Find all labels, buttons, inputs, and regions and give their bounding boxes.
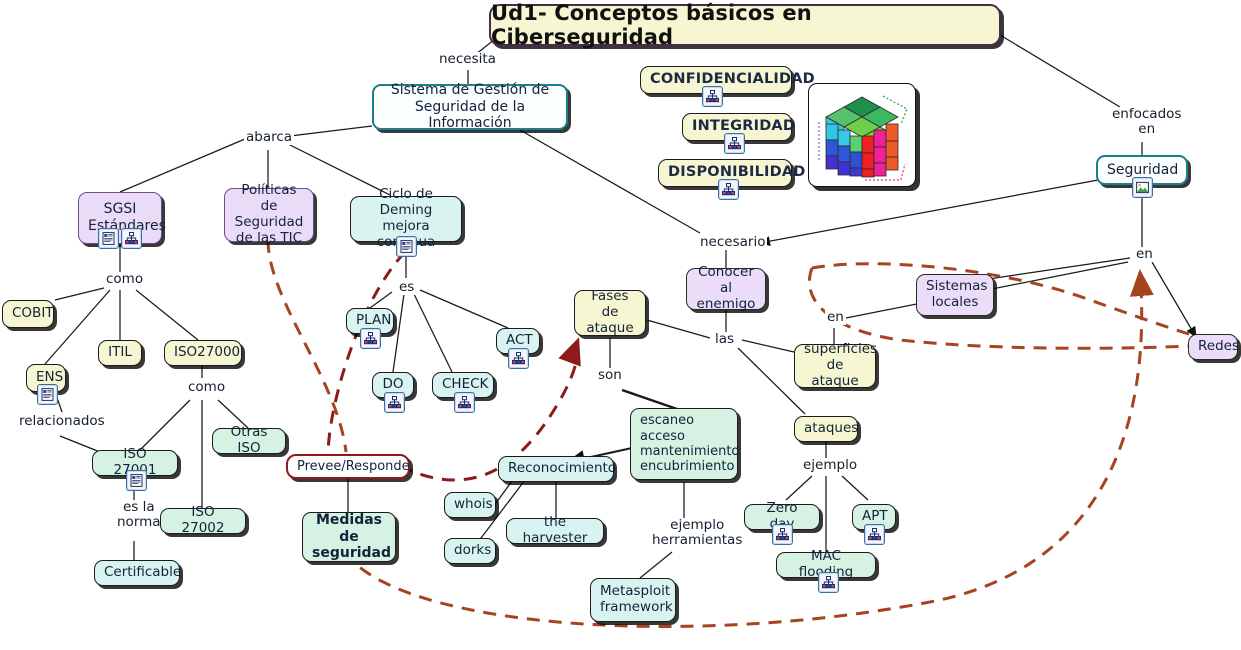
link-label-necesita: necesita: [437, 52, 498, 67]
node-otras-iso[interactable]: Otras ISO: [212, 428, 286, 454]
concept-map-canvas: Ud1- Conceptos básicos en Ciberseguridad…: [0, 0, 1241, 650]
link-label-las: las: [713, 332, 736, 347]
icons-apt: [864, 524, 885, 545]
node-tree-icon[interactable]: [508, 348, 529, 369]
icons-ens: [37, 384, 58, 405]
node-tree-icon[interactable]: [724, 133, 745, 154]
icons-iso-27001: [126, 470, 147, 491]
node-politicas-seguridad-tic[interactable]: Políticas de Seguridad de las TIC: [224, 188, 314, 242]
document-icon[interactable]: [396, 236, 417, 257]
node-superficies-de-ataque[interactable]: superficies de ataque: [794, 344, 876, 388]
node-tree-icon[interactable]: [718, 179, 739, 200]
link-label-necesario: necesario: [698, 235, 767, 250]
node-fases-de-ataque[interactable]: Fases de ataque: [574, 290, 646, 336]
node-metasploit-framework[interactable]: Metasploit framework: [590, 578, 676, 622]
node-sgsi-main[interactable]: Sistema de Gestión de Seguridad de la In…: [372, 84, 568, 130]
node-tree-icon[interactable]: [702, 86, 723, 107]
mccumber-cube-image: [808, 83, 916, 187]
node-tree-icon[interactable]: [818, 572, 839, 593]
node-redes[interactable]: Redes: [1188, 334, 1238, 360]
link-label-en-2: en: [1134, 247, 1155, 262]
link-label-en-1: en: [825, 310, 846, 325]
node-whois[interactable]: whois: [444, 492, 496, 518]
link-label-abarca: abarca: [244, 130, 294, 145]
icons-check: [454, 392, 475, 413]
link-label-enfocados-en: enfocados en: [1110, 107, 1183, 137]
node-prevee-responde[interactable]: Prevee/Responde: [286, 454, 410, 479]
node-tree-icon[interactable]: [121, 228, 142, 249]
node-fases-lista[interactable]: escaneo acceso mantenimiento encubrimien…: [630, 408, 738, 480]
icons-plan: [360, 328, 381, 349]
node-tree-icon[interactable]: [360, 328, 381, 349]
node-cobit[interactable]: COBIT: [2, 300, 54, 328]
node-sistemas-locales[interactable]: Sistemas locales: [916, 274, 994, 316]
icons-seguridad: [1132, 177, 1153, 198]
icons-do: [384, 392, 405, 413]
node-tree-icon[interactable]: [384, 392, 405, 413]
node-conocer-al-enemigo[interactable]: Conocer al enemigo: [686, 268, 766, 310]
icons-confidencialidad: [702, 86, 723, 107]
node-dorks[interactable]: dorks: [444, 538, 496, 564]
node-tree-icon[interactable]: [454, 392, 475, 413]
icons-ciclo-deming: [396, 236, 417, 257]
node-tree-icon[interactable]: [864, 524, 885, 545]
icons-zero-day: [772, 524, 793, 545]
link-label-es-la-norma: es la norma: [115, 500, 163, 530]
link-label-como-2: como: [186, 380, 227, 395]
link-label-ejemplo: ejemplo: [801, 458, 859, 473]
node-tree-icon[interactable]: [772, 524, 793, 545]
icons-disponibilidad: [718, 179, 739, 200]
icons-integridad: [724, 133, 745, 154]
node-reconocimiento[interactable]: Reconocimiento: [498, 456, 614, 482]
node-the-harvester[interactable]: the harvester: [506, 518, 604, 544]
node-iso27000[interactable]: ISO27000: [164, 340, 242, 366]
node-medidas-seguridad[interactable]: Medidas de seguridad: [302, 512, 396, 562]
picture-icon[interactable]: [1132, 177, 1153, 198]
link-label-son: son: [596, 368, 624, 383]
node-iso-27002[interactable]: ISO 27002: [160, 508, 246, 534]
icons-mac-flooding: [818, 572, 839, 593]
link-label-ejemplo-herramientas: ejemplo herramientas: [650, 518, 744, 548]
page-title: Ud1- Conceptos básicos en Ciberseguridad: [489, 4, 1001, 46]
link-label-como-1: como: [104, 272, 145, 287]
link-label-es: es: [397, 280, 416, 295]
node-itil[interactable]: ITIL: [98, 340, 142, 366]
document-icon[interactable]: [126, 470, 147, 491]
document-icon[interactable]: [37, 384, 58, 405]
link-label-relacionados: relacionados: [17, 414, 107, 429]
node-certificable[interactable]: Certificable: [94, 560, 180, 586]
document-icon[interactable]: [98, 228, 119, 249]
icons-sgsi-estandares: [98, 228, 142, 249]
node-ataques[interactable]: ataques: [794, 416, 858, 442]
icons-act: [508, 348, 529, 369]
